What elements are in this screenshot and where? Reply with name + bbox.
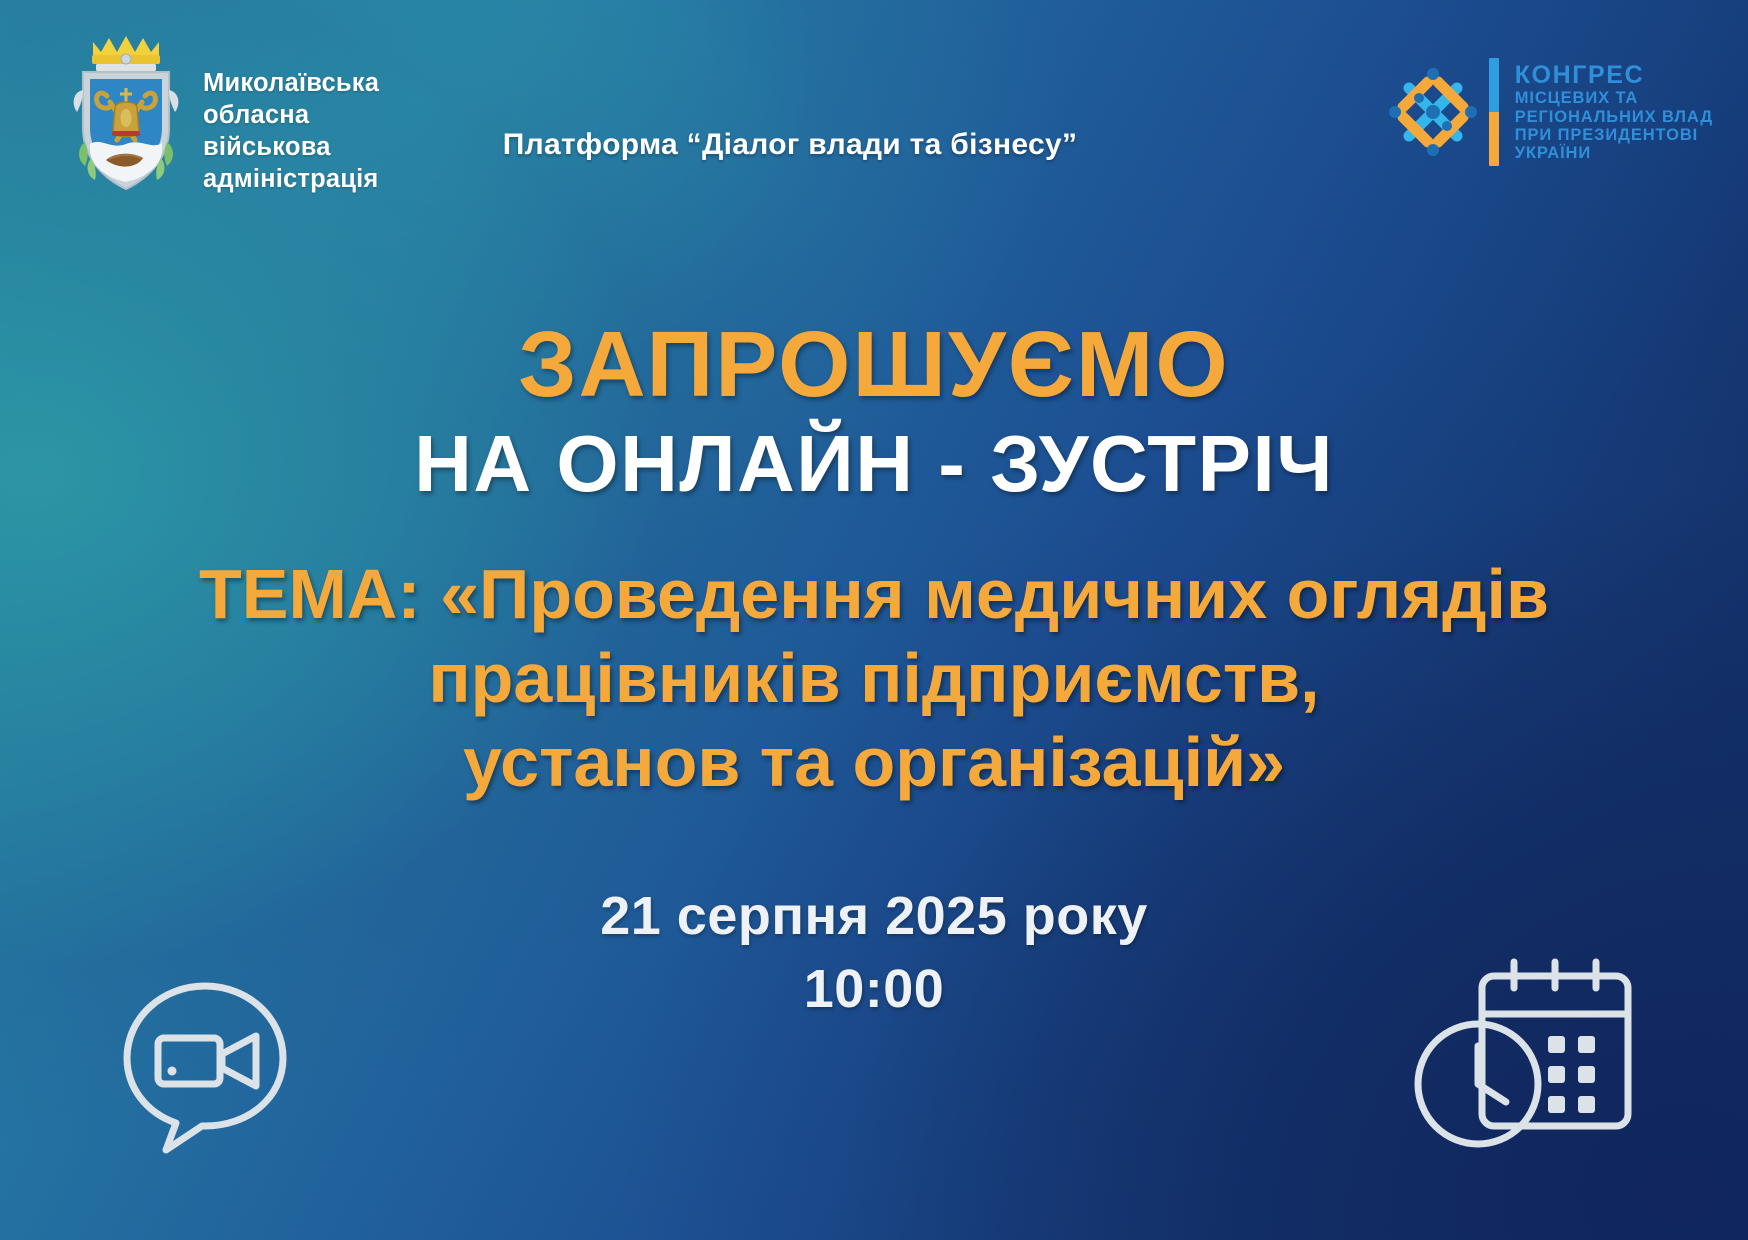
org-line-4: адміністрація (203, 165, 378, 193)
topic-line-2: працівників підприємств, (60, 636, 1688, 720)
congress-logo: КОНГРЕС МІСЦЕВИХ ТА РЕГІОНАЛЬНИХ ВЛАД ПР… (1383, 58, 1713, 166)
meeting-subtitle: НА ОНЛАЙН - ЗУСТРІЧ (0, 424, 1748, 504)
video-camera-chat-bubble-icon (110, 970, 300, 1160)
platform-title: Платформа “Діалог влади та бізнесу” (440, 128, 1140, 162)
congress-line-5: УКРАЇНИ (1515, 144, 1713, 162)
org-line-3: військова (203, 133, 331, 161)
congress-line-1: КОНГРЕС (1515, 61, 1713, 89)
topic-line-3: установ та організацій» (60, 720, 1688, 804)
invite-heading: ЗАПРОШУЄМО (0, 318, 1748, 411)
poster-header: Миколаївська обласна військова адміністр… (0, 0, 1748, 215)
organization-name: Миколаївська обласна військова адміністр… (203, 67, 443, 196)
congress-flag-bar (1489, 58, 1499, 166)
org-line-2: обласна (203, 101, 309, 129)
poster-canvas: Миколаївська обласна військова адміністр… (0, 0, 1748, 1240)
congress-wordmark: КОНГРЕС МІСЦЕВИХ ТА РЕГІОНАЛЬНИХ ВЛАД ПР… (1515, 61, 1713, 163)
congress-line-4: ПРИ ПРЕЗИДЕНТОВІ (1515, 126, 1713, 144)
org-line-1: Миколаївська (203, 69, 379, 97)
topic-text: ТЕМА: «Проведення медичних оглядів праці… (60, 552, 1688, 804)
congress-pinwheel-icon (1383, 62, 1483, 162)
congress-line-3: РЕГІОНАЛЬНИХ ВЛАД (1515, 108, 1713, 126)
event-date: 21 серпня 2025 року (600, 886, 1148, 946)
mykolaiv-coat-of-arms-icon (63, 32, 189, 194)
calendar-clock-icon (1410, 952, 1640, 1162)
congress-line-2: МІСЦЕВИХ ТА (1515, 89, 1713, 107)
topic-line-1: ТЕМА: «Проведення медичних оглядів (60, 552, 1688, 636)
